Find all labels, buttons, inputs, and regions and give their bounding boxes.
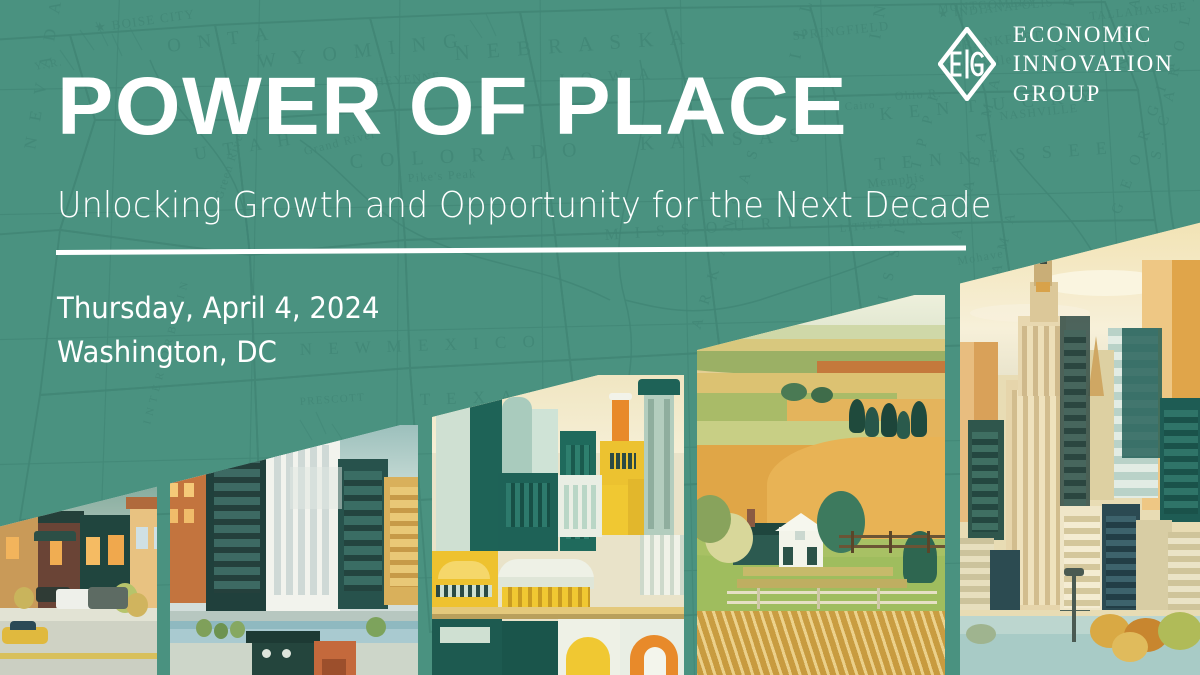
eig-wordmark: ECONOMIC INNOVATION GROUP bbox=[1013, 20, 1174, 108]
slide-canvas: O N T A W Y O M I N G N E B R A S K A C … bbox=[0, 0, 1200, 675]
eig-logo[interactable]: ECONOMIC INNOVATION GROUP bbox=[938, 20, 1174, 108]
logo-line-3: GROUP bbox=[1013, 79, 1174, 108]
divider-rule bbox=[56, 246, 966, 255]
event-location: Washington, DC bbox=[57, 330, 380, 374]
logo-line-1: ECONOMIC bbox=[1013, 20, 1174, 49]
event-date: Thursday, April 4, 2024 bbox=[57, 286, 380, 330]
event-details: Thursday, April 4, 2024 Washington, DC bbox=[57, 286, 380, 374]
eig-diamond-monogram-icon bbox=[938, 27, 996, 101]
logo-line-2: INNOVATION bbox=[1013, 49, 1174, 78]
page-title: POWER OF PLACE bbox=[57, 67, 848, 147]
slide-content: POWER OF PLACE Unlocking Growth and Oppo… bbox=[0, 0, 1200, 675]
page-subtitle: Unlocking Growth and Opportunity for the… bbox=[57, 185, 991, 226]
